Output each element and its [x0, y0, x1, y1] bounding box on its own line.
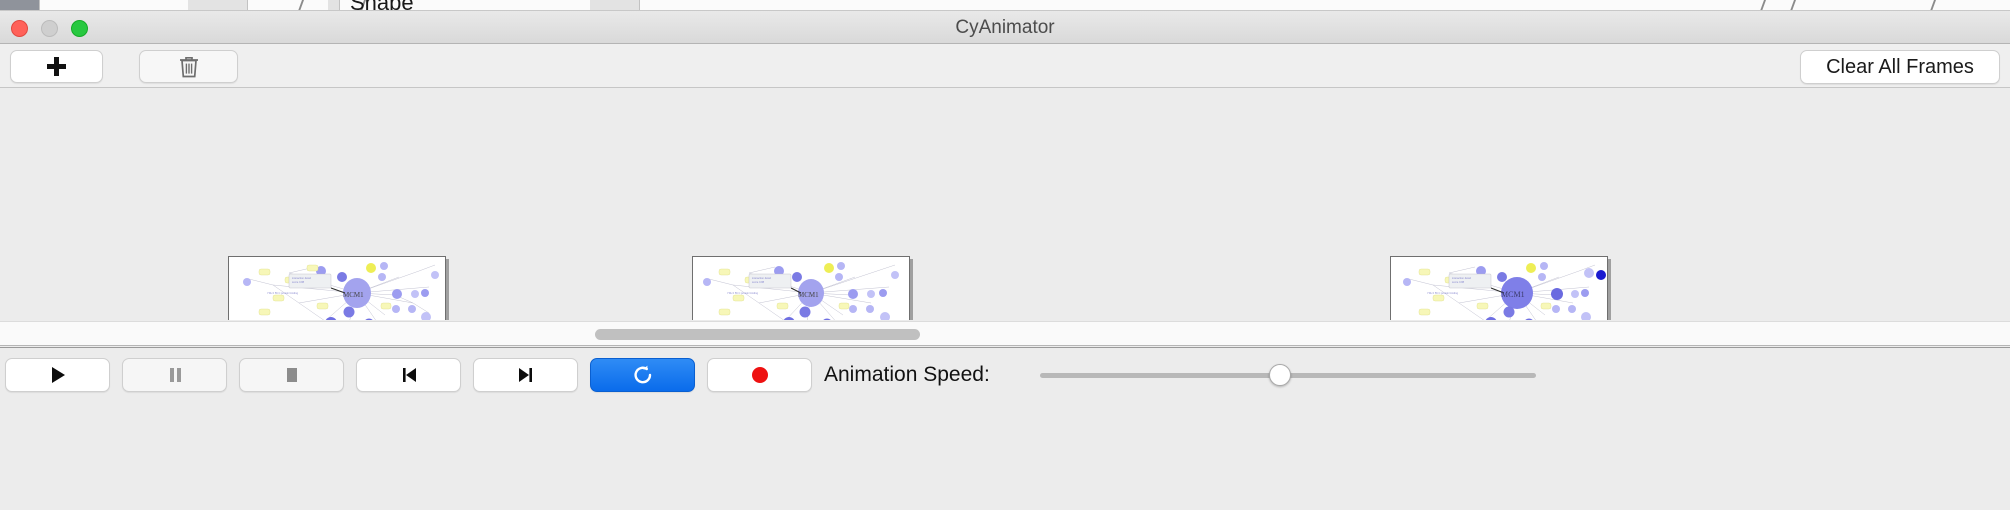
pause-icon	[165, 365, 185, 385]
bg-chrome-block	[0, 0, 40, 11]
background-app-strip: Shape	[0, 0, 2010, 11]
svg-text:score 0.88: score 0.88	[1452, 280, 1465, 284]
skip-end-button[interactable]	[473, 358, 578, 392]
record-icon	[750, 365, 770, 385]
plus-icon	[47, 57, 66, 76]
skip-start-icon	[399, 365, 419, 385]
bg-tick-mark	[1790, 0, 1796, 11]
scrollbar-thumb[interactable]	[595, 329, 920, 340]
animation-speed-label: Animation Speed:	[824, 358, 990, 392]
svg-text:MCM1: MCM1	[343, 291, 364, 299]
slider-knob[interactable]	[1269, 364, 1291, 386]
svg-text:YDL 0 56 C protein binding: YDL 0 56 C protein binding	[267, 291, 299, 295]
svg-text:score 0.88: score 0.88	[292, 280, 305, 284]
svg-text:interaction detail: interaction detail	[1452, 276, 1471, 280]
timeline-frame-3[interactable]: interaction detail score 0.88 YDL 0 56 C…	[1390, 256, 1608, 320]
bg-tick-mark	[1760, 0, 1766, 11]
trash-icon	[178, 55, 200, 79]
network-thumbnail: interaction detail score 0.88 YDL 0 56 C…	[229, 257, 445, 320]
record-button[interactable]	[707, 358, 812, 392]
svg-text:YDL 0 56 C protein binding: YDL 0 56 C protein binding	[1427, 291, 1459, 295]
bg-chrome-block	[328, 0, 340, 11]
bg-tick-mark	[298, 0, 304, 11]
background-partial-label: Shape	[350, 0, 414, 11]
clear-all-frames-button[interactable]: Clear All Frames	[1800, 50, 2000, 84]
bg-chrome-block	[590, 0, 640, 11]
skip-start-button[interactable]	[356, 358, 461, 392]
play-icon	[48, 365, 68, 385]
bg-tick-mark	[1930, 0, 1936, 11]
pause-button[interactable]	[122, 358, 227, 392]
stop-button[interactable]	[239, 358, 344, 392]
delete-frame-button[interactable]	[139, 50, 238, 83]
clear-all-frames-label: Clear All Frames	[1826, 56, 1974, 79]
title-bar: CyAnimator	[0, 11, 2010, 44]
svg-text:YDL 0 56 C protein binding: YDL 0 56 C protein binding	[727, 291, 759, 295]
timeline-frame-2[interactable]: interaction detail score 0.88 YDL 0 56 C…	[692, 256, 910, 320]
bg-chrome-block	[188, 0, 248, 11]
timeline-panel[interactable]: interaction detail score 0.88 YDL 0 56 C…	[0, 88, 2010, 320]
svg-text:MCM1: MCM1	[1501, 290, 1525, 299]
svg-text:interaction detail: interaction detail	[292, 276, 311, 280]
timeline-scrollbar[interactable]	[0, 321, 2010, 346]
svg-text:score 0.88: score 0.88	[752, 280, 765, 284]
frame-toolbar: Clear All Frames	[0, 44, 2010, 88]
cyanimator-window: Shape CyAnimator Clear All Frames	[0, 0, 2010, 510]
svg-text:MCM1: MCM1	[798, 291, 819, 299]
window-title: CyAnimator	[0, 11, 2010, 44]
network-thumbnail: interaction detail score 0.88 YDL 0 56 C…	[1391, 257, 1607, 320]
playback-bar: Animation Speed:	[0, 347, 2010, 410]
svg-text:interaction detail: interaction detail	[752, 276, 771, 280]
add-frame-button[interactable]	[10, 50, 103, 83]
network-thumbnail: interaction detail score 0.88 YDL 0 56 C…	[693, 257, 909, 320]
timeline-frame-1[interactable]: interaction detail score 0.88 YDL 0 56 C…	[228, 256, 446, 320]
animation-speed-slider[interactable]	[1040, 358, 1536, 392]
skip-end-icon	[516, 365, 536, 385]
loop-icon	[632, 364, 654, 386]
play-button[interactable]	[5, 358, 110, 392]
stop-icon	[282, 365, 302, 385]
loop-button[interactable]	[590, 358, 695, 392]
